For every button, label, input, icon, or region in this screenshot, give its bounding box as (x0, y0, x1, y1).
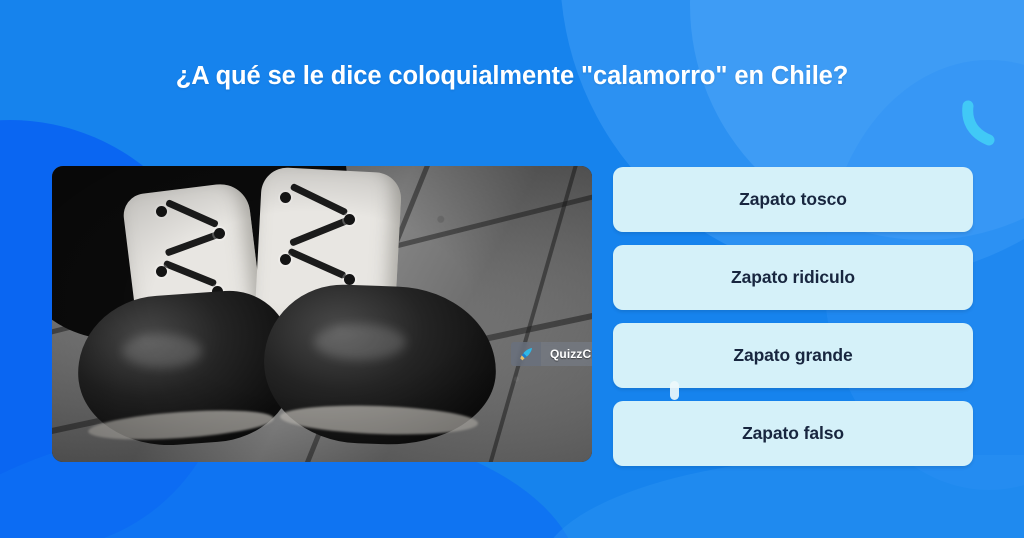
answer-option-2[interactable]: Zapato ridiculo (613, 245, 973, 310)
decorative-shape-bottom-right (540, 455, 1024, 538)
answer-option-label: Zapato falso (742, 423, 844, 444)
quiz-card: ¿A qué se le dice coloquialmente "calamo… (0, 0, 1024, 538)
watermark-badge: QuizzClub (511, 342, 592, 366)
rocket-icon (511, 342, 541, 366)
answer-option-4[interactable]: Zapato falso (613, 401, 973, 466)
answer-option-1[interactable]: Zapato tosco (613, 167, 973, 232)
answer-option-label: Zapato ridiculo (731, 267, 855, 288)
question-image-panel: QuizzClub (52, 166, 592, 462)
answer-options-list: Zapato tosco Zapato ridiculo Zapato gran… (613, 167, 973, 466)
watermark-label: QuizzClub (541, 342, 592, 366)
answer-option-label: Zapato tosco (739, 189, 847, 210)
answer-option-3[interactable]: Zapato grande (613, 323, 973, 388)
image-vignette (52, 166, 592, 462)
text-cursor-icon (670, 381, 679, 400)
page-title: ¿A qué se le dice coloquialmente "calamo… (0, 62, 1024, 91)
question-image (52, 166, 592, 462)
crescent-icon (958, 100, 998, 148)
answer-option-label: Zapato grande (733, 345, 852, 366)
